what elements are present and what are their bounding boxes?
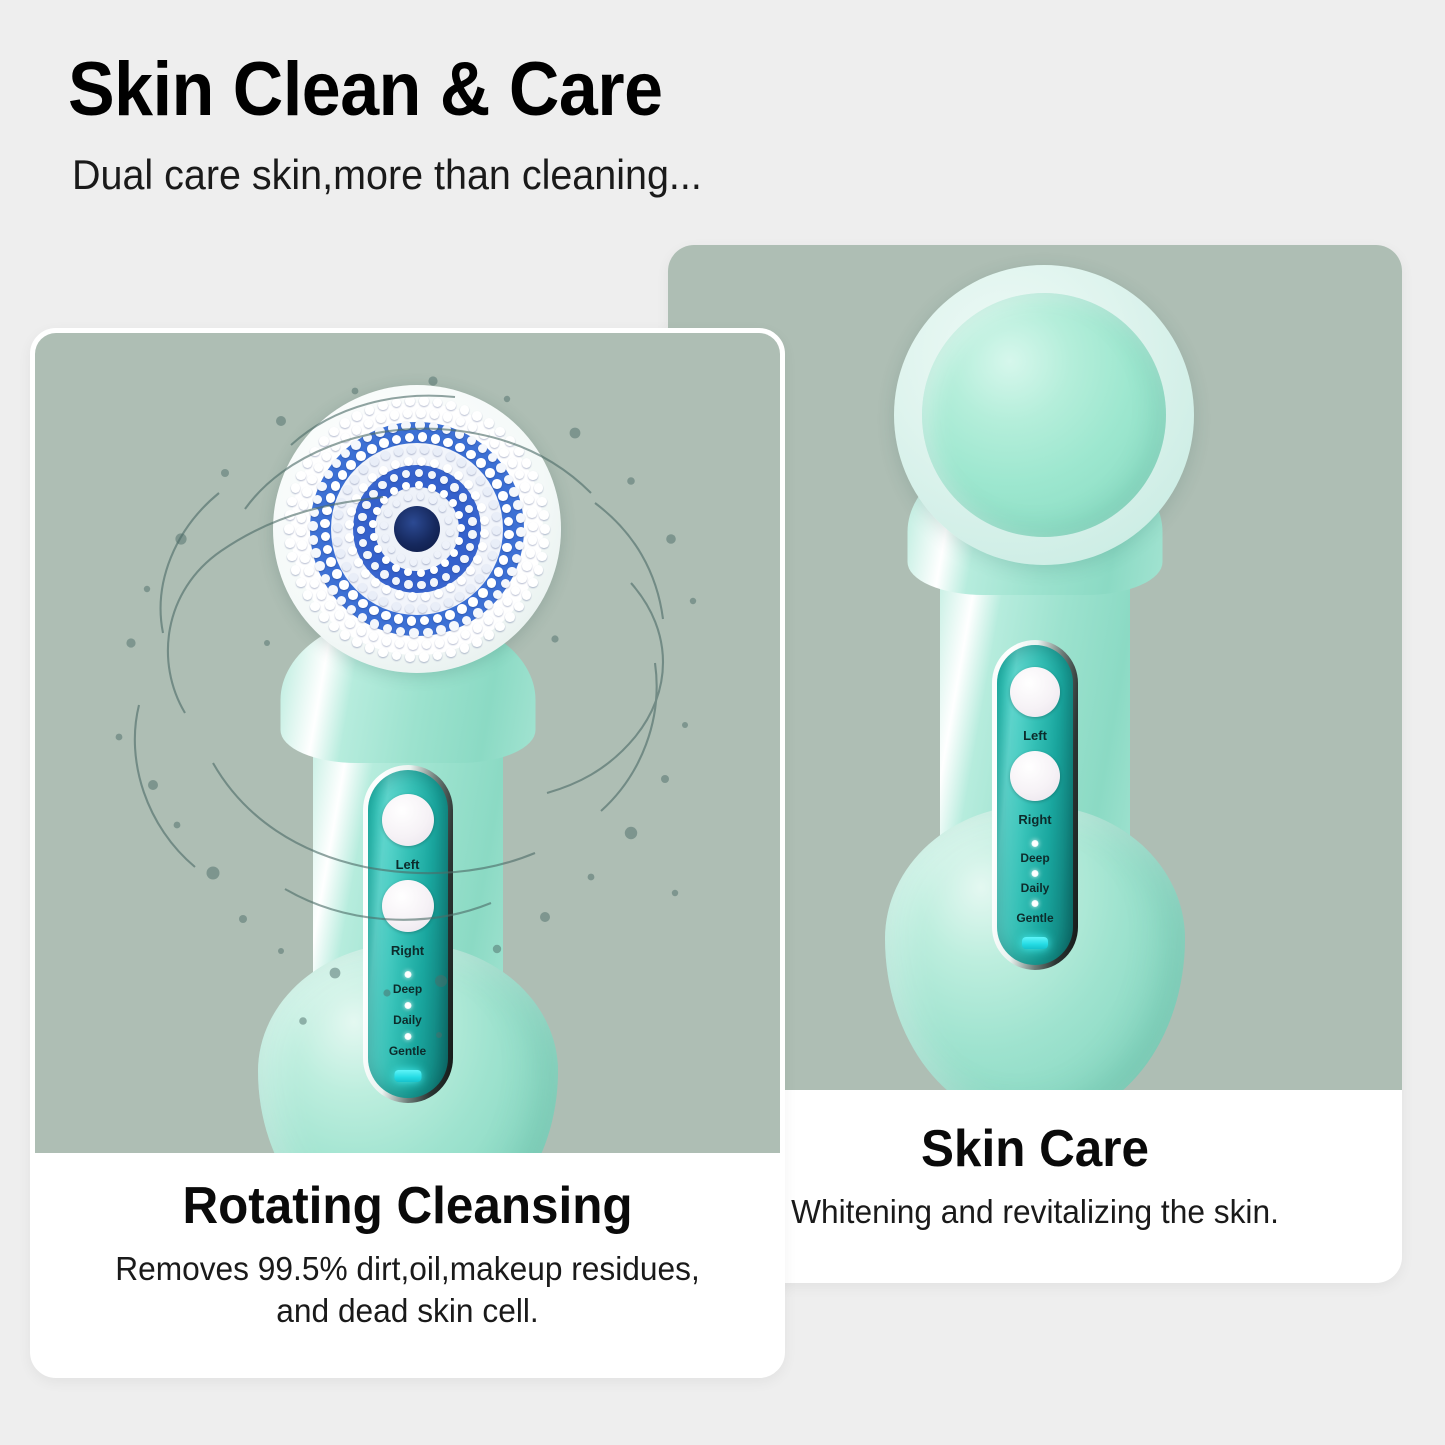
page-subtitle: Dual care skin,more than cleaning... — [72, 154, 1196, 196]
caption-line-1: Removes 99.5% dirt,oil,makeup residues, — [115, 1250, 700, 1287]
caption-title-skin-care: Skin Care — [711, 1122, 1359, 1177]
led-deep — [1032, 840, 1039, 847]
massage-head-ring — [894, 265, 1194, 565]
device-rotating-cleansing: Left Right Deep Daily Gentle — [35, 333, 780, 1153]
caption-title-rotating-cleansing: Rotating Cleansing — [78, 1179, 736, 1234]
mode-daily-label: Daily — [997, 882, 1073, 894]
button-left-label: Left — [997, 729, 1073, 742]
button-right-label: Right — [997, 813, 1073, 826]
led-gentle — [404, 1033, 411, 1040]
battery-indicator — [394, 1070, 421, 1082]
caption-text-rotating-cleansing: Removes 99.5% dirt,oil,makeup residues, … — [75, 1248, 740, 1332]
button-left[interactable] — [382, 794, 434, 846]
page-header: Skin Clean & Care Dual care skin,more th… — [68, 52, 1268, 196]
control-panel[interactable]: Left Right Deep Daily Gentle — [992, 640, 1078, 970]
massage-head-dome — [922, 293, 1166, 537]
control-panel-face: Left Right Deep Daily Gentle — [997, 645, 1073, 965]
control-panel[interactable]: Left Right Deep Daily Gentle — [363, 765, 453, 1103]
button-left-label: Left — [368, 858, 448, 871]
button-right[interactable] — [382, 880, 434, 932]
mode-daily-label: Daily — [368, 1014, 448, 1026]
product-photo-rotating-cleansing: Left Right Deep Daily Gentle — [35, 333, 780, 1153]
feature-card-rotating-cleansing[interactable]: Left Right Deep Daily Gentle — [30, 328, 785, 1378]
led-daily — [1032, 870, 1039, 877]
cleansing-brush-head — [273, 385, 561, 673]
mode-deep-label: Deep — [997, 852, 1073, 864]
button-left[interactable] — [1010, 667, 1060, 717]
button-right[interactable] — [1010, 751, 1060, 801]
button-right-label: Right — [368, 944, 448, 957]
caption-rotating-cleansing: Rotating Cleansing Removes 99.5% dirt,oi… — [35, 1153, 780, 1332]
control-panel-face: Left Right Deep Daily Gentle — [368, 770, 448, 1098]
page-title: Skin Clean & Care — [68, 52, 1172, 128]
mode-gentle-label: Gentle — [368, 1045, 448, 1057]
caption-text-skin-care: Whitening and revitalizing the skin. — [708, 1191, 1363, 1233]
mode-deep-label: Deep — [368, 983, 448, 995]
brush-bristle-dots — [273, 385, 561, 673]
led-daily — [404, 1002, 411, 1009]
battery-indicator — [1022, 937, 1048, 949]
mode-gentle-label: Gentle — [997, 912, 1073, 924]
led-deep — [404, 971, 411, 978]
caption-line-2: and dead skin cell. — [276, 1292, 538, 1329]
led-gentle — [1032, 900, 1039, 907]
